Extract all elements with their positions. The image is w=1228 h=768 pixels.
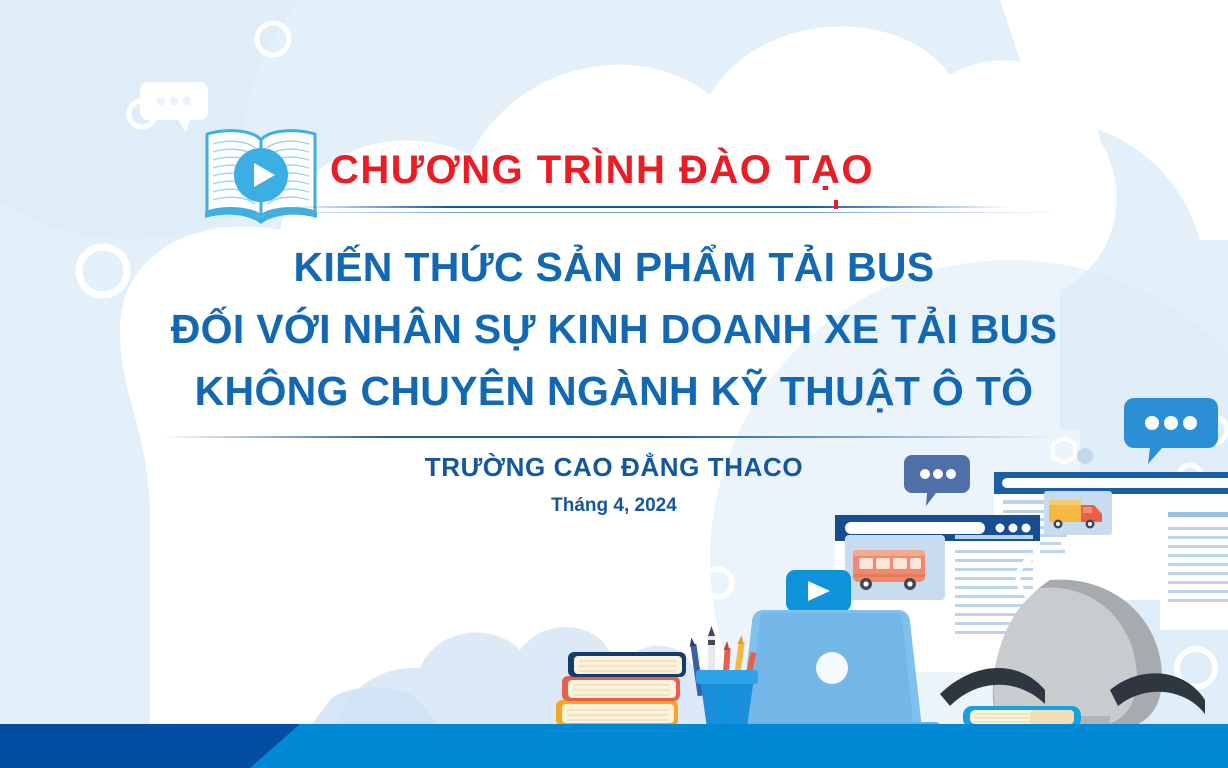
divider-bottom — [160, 436, 1060, 438]
play-button-icon — [786, 570, 851, 612]
organization-name: TRƯỜNG CAO ĐẲNG THACO — [0, 452, 1228, 483]
document-page-icon — [1160, 504, 1228, 630]
main-title: KIẾN THỨC SẢN PHẨM TẢI BUS ĐỐI VỚI NHÂN … — [0, 236, 1228, 422]
desk-shape — [312, 687, 438, 724]
book-stack-icon — [556, 652, 686, 726]
title-line-3: KHÔNG CHUYÊN NGÀNH KỸ THUẬT Ô TÔ — [0, 360, 1228, 422]
program-eyebrow-text: CHƯƠNG TRÌNH ĐÀO TẠO — [330, 148, 930, 193]
footer-bar — [0, 724, 1228, 768]
divider-top-secondary — [250, 212, 1060, 213]
title-line-2: ĐỐI VỚI NHÂN SỰ KINH DOANH XE TẢI BUS — [0, 298, 1228, 360]
desk-accent-bar — [718, 690, 730, 728]
title-line-1: KIẾN THỨC SẢN PHẨM TẢI BUS — [0, 236, 1228, 298]
presentation-title-slide: CHƯƠNG TRÌNH ĐÀO TẠO KIẾN THỨC SẢN PHẨM … — [0, 0, 1228, 768]
divider-red-tick — [834, 200, 838, 209]
divider-top-primary — [290, 206, 1010, 208]
slide-date: Tháng 4, 2024 — [0, 495, 1228, 517]
